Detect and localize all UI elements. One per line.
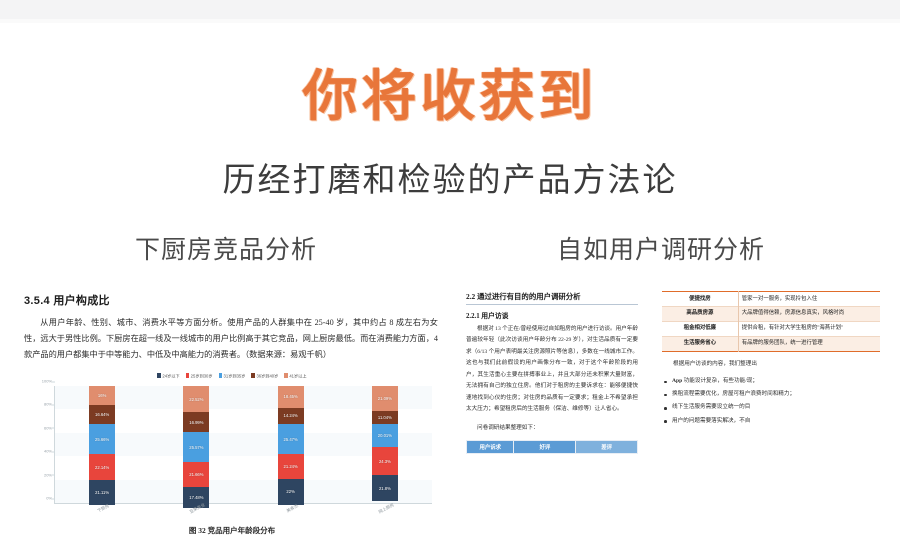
- legend-swatch-icon: [284, 373, 288, 378]
- chart-plot-area: 0%20%40%60%80%100%16%16.64%25.66%22.14%2…: [54, 386, 432, 504]
- age-distribution-chart: 24岁以下25岁到30岁31岁到35岁36岁到40岁41岁以上 0%20%40%…: [24, 373, 440, 523]
- findings-lead: 根据用户访谈的内容，我们整理出: [662, 359, 880, 370]
- chart-y-tick: 80%: [44, 402, 52, 407]
- survey-lead-text: 问卷调研结果整理如下：: [477, 425, 539, 431]
- table-row: 便捷找房管家一对一服务，实现拎包入住: [662, 292, 880, 307]
- chart-legend: 24岁以下25岁到30岁31岁到35岁36岁到40岁41岁以上: [24, 373, 440, 380]
- chart-bar-segment: 25.66%: [89, 424, 115, 454]
- chart-bar-segment: 18.45%: [278, 386, 304, 408]
- top-gray-band-fade: [0, 19, 900, 23]
- left-column-heading: 下厨房竞品分析: [135, 230, 317, 266]
- chart-bar-segment: 21.8%: [372, 475, 398, 501]
- needs-table-value: 有品牌的服务团队，统一进行管理: [738, 336, 880, 351]
- right-doc-paragraph-text: 根据对 13 个正在/曾经使用过自如租房的用户进行访谈。用户年龄普遍较年轻（此次…: [466, 326, 638, 412]
- needs-table-key: 生活服务省心: [662, 336, 738, 351]
- chart-bar: 22.52%16.99%25.57%21.66%17.48%豆果美食: [183, 386, 209, 503]
- needs-table-value: 管家一对一服务，实现拎包入住: [738, 292, 880, 307]
- chart-bar-segment: 16.64%: [89, 405, 115, 424]
- chart-bar-segment: 21.09%: [372, 386, 398, 411]
- right-doc-subsection-title: 2.2.1 用户访谈: [466, 310, 638, 320]
- left-doc-section-title: 3.5.4 用户构成比: [24, 292, 110, 308]
- legend-item: 31岁到35岁: [219, 373, 246, 380]
- top-gray-band: [0, 0, 900, 19]
- chart-bar-segment: 25.57%: [183, 432, 209, 462]
- chart-y-tick: 40%: [44, 449, 52, 454]
- legend-item: 25岁到30岁: [186, 373, 213, 380]
- needs-table-value: 提供合租，有针对大学生租房的"海燕计划": [738, 321, 880, 336]
- left-document-panel: 3.5.4 用户构成比 从用户年龄、性别、城市、消费水平等方面分析。使用产品的人…: [18, 287, 446, 549]
- left-doc-paragraph-text: 从用户年龄、性别、城市、消费水平等方面分析。使用产品的人群集中在 25-40 岁…: [24, 318, 438, 359]
- chart-y-tick: 100%: [42, 379, 52, 384]
- chart-bar-segment: 22.52%: [183, 386, 209, 412]
- chart-bar-segment: 20.01%: [372, 424, 398, 447]
- list-item-prefix: App: [672, 378, 682, 384]
- findings-list: App 功能设计复杂，有些功能/现；换租流程需要优化，房屋可租户浪费时间和精力；…: [662, 376, 880, 427]
- legend-label: 24岁以下: [162, 374, 179, 379]
- page-title: 你将收获到: [0, 68, 900, 126]
- table-header-row: 用户诉求 好评 差评: [467, 441, 638, 454]
- table-header-positive: 好评: [514, 441, 576, 454]
- chart-x-tick: 美食杰: [285, 503, 299, 514]
- right-document-panel: 2.2 通过进行有目的的用户调研分析 2.2.1 用户访谈 根据对 13 个正在…: [462, 287, 882, 549]
- chart-bar-segment: 14.24%: [278, 408, 304, 425]
- legend-label: 25岁到30岁: [191, 374, 213, 379]
- chart-bar-segment: 21.11%: [89, 480, 115, 505]
- right-column-heading: 自如用户调研分析: [557, 230, 765, 266]
- table-row: 生活服务省心有品牌的服务团队，统一进行管理: [662, 336, 880, 351]
- chart-y-tick: 60%: [44, 425, 52, 430]
- right-doc-column-a: 2.2 通过进行有目的的用户调研分析 2.2.1 用户访谈 根据对 13 个正在…: [466, 291, 638, 454]
- chart-y-tick: 0%: [46, 496, 52, 501]
- chart-bar-segment: 22.14%: [89, 454, 115, 480]
- survey-lead: 问卷调研结果整理如下：: [466, 423, 638, 434]
- legend-item: 41岁以上: [284, 373, 306, 380]
- chart-bar: 16%16.64%25.66%22.14%21.11%下厨房: [89, 386, 115, 503]
- survey-result-table: 用户诉求 好评 差评: [466, 440, 638, 454]
- legend-swatch-icon: [251, 373, 255, 378]
- list-item-text: 用户的问题需要落实解决，不自: [672, 418, 750, 424]
- chart-bar-segment: 16%: [89, 386, 115, 405]
- page-subtitle: 历经打磨和检验的产品方法论: [0, 153, 900, 201]
- list-item-text: 线下生活服务需要设立统一的目: [672, 404, 750, 410]
- legend-label: 36岁到40岁: [256, 374, 278, 379]
- chart-bar-segment: 22%: [278, 479, 304, 505]
- chart-y-tick: 20%: [44, 472, 52, 477]
- right-doc-paragraph: 根据对 13 个正在/曾经使用过自如租房的用户进行访谈。用户年龄普遍较年轻（此次…: [466, 324, 638, 416]
- legend-swatch-icon: [186, 373, 190, 378]
- findings-lead-text: 根据用户访谈的内容，我们整理出: [673, 361, 757, 367]
- chart-caption: 图 32 竞品用户年龄段分布: [18, 525, 446, 536]
- legend-swatch-icon: [219, 373, 223, 378]
- legend-label: 41岁以上: [289, 374, 306, 379]
- legend-item: 36岁到40岁: [251, 373, 278, 380]
- right-doc-column-b: 便捷找房管家一对一服务，实现拎包入住高品质房源大品牌值得信赖，房源信息真实，风格…: [662, 291, 880, 429]
- chart-bar-segment: 21.66%: [183, 462, 209, 487]
- needs-table-value: 大品牌值得信赖，房源信息真实，风格时尚: [738, 306, 880, 321]
- legend-item: 24岁以下: [157, 373, 179, 380]
- chart-bar: 21.09%11.04%20.01%24.3%21.8%网上厨房: [372, 386, 398, 503]
- chart-bar-segment: 11.04%: [372, 411, 398, 424]
- right-doc-section-title: 2.2 通过进行有目的的用户调研分析: [466, 291, 638, 305]
- list-item: 线下生活服务需要设立统一的目: [662, 402, 880, 413]
- list-item: 换租流程需要优化，房屋可租户浪费时间和精力；: [662, 389, 880, 400]
- chart-bar-segment: 24.3%: [372, 447, 398, 475]
- table-header-need: 用户诉求: [467, 441, 514, 454]
- list-item-text: 功能设计复杂，有些功能/现；: [682, 378, 758, 384]
- table-header-negative: 差评: [576, 441, 638, 454]
- list-item: App 功能设计复杂，有些功能/现；: [662, 376, 880, 387]
- list-item-text: 换租流程需要优化，房屋可租户浪费时间和精力；: [672, 391, 795, 397]
- legend-swatch-icon: [157, 373, 161, 378]
- chart-bar: 18.45%14.24%25.47%21.24%22%美食杰: [278, 386, 304, 503]
- table-row: 高品质房源大品牌值得信赖，房源信息真实，风格时尚: [662, 306, 880, 321]
- list-item: 用户的问题需要落实解决，不自: [662, 416, 880, 427]
- chart-bar-segment: 16.99%: [183, 412, 209, 432]
- user-needs-table: 便捷找房管家一对一服务，实现拎包入住高品质房源大品牌值得信赖，房源信息真实，风格…: [662, 291, 880, 352]
- needs-table-key: 租金相对低廉: [662, 321, 738, 336]
- chart-bar-segment: 21.24%: [278, 454, 304, 479]
- table-row: 租金相对低廉提供合租，有针对大学生租房的"海燕计划": [662, 321, 880, 336]
- legend-label: 31岁到35岁: [224, 374, 246, 379]
- chart-bar-segment: 25.47%: [278, 424, 304, 454]
- needs-table-key: 便捷找房: [662, 292, 738, 307]
- chart-x-tick: 网上厨房: [377, 502, 395, 515]
- needs-table-key: 高品质房源: [662, 306, 738, 321]
- left-doc-paragraph: 从用户年龄、性别、城市、消费水平等方面分析。使用产品的人群集中在 25-40 岁…: [24, 315, 438, 363]
